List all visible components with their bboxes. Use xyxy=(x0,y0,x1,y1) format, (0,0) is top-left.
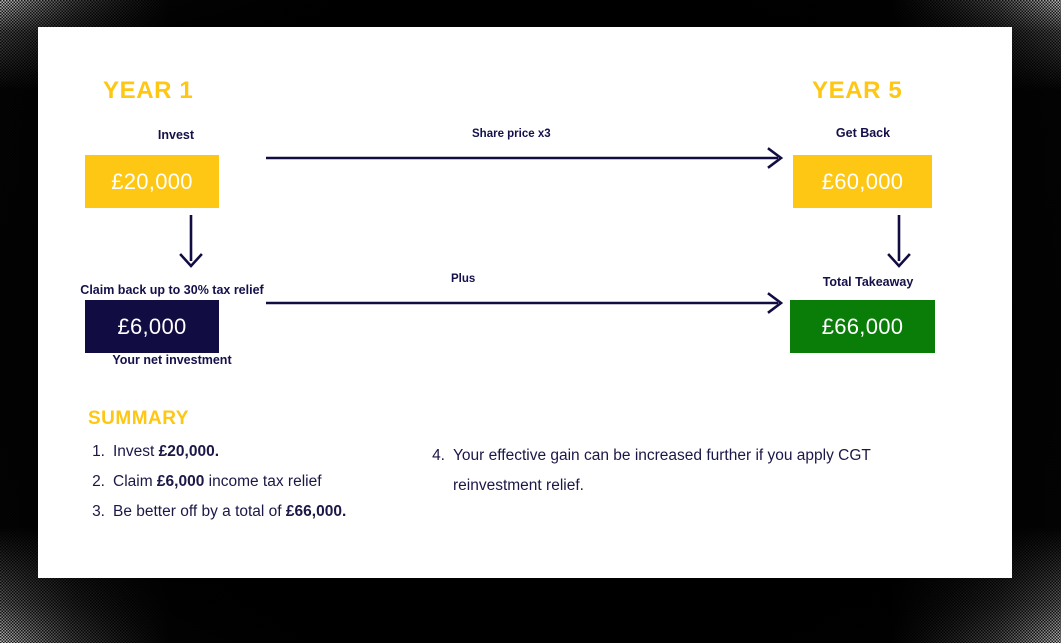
summary-item-number: 4. xyxy=(423,441,445,501)
summary-list-item: 3.Be better off by a total of £66,000. xyxy=(83,497,346,527)
right-arrow-top-icon xyxy=(266,144,789,172)
total-takeaway-amount-value: £66,000 xyxy=(822,314,904,340)
share-price-caption: Share price x3 xyxy=(472,128,551,140)
plus-caption: Plus xyxy=(451,273,475,285)
summary-list-item: 4.Your effective gain can be increased f… xyxy=(423,441,908,501)
summary-list-left: 1.Invest £20,000.2.Claim £6,000 income t… xyxy=(83,437,346,527)
down-arrow-left-icon xyxy=(168,215,214,269)
invest-label: Invest xyxy=(86,128,266,142)
year-5-heading: YEAR 5 xyxy=(812,77,902,105)
tax-relief-amount-value: £6,000 xyxy=(117,314,186,340)
down-arrow-right-icon xyxy=(876,215,922,269)
get-back-amount-value: £60,000 xyxy=(822,169,904,195)
invest-amount-value: £20,000 xyxy=(111,169,193,195)
invest-amount-box: £20,000 xyxy=(85,155,219,208)
total-takeaway-label: Total Takeaway xyxy=(753,275,983,289)
get-back-label: Get Back xyxy=(753,126,973,140)
summary-list-item: 1.Invest £20,000. xyxy=(83,437,346,467)
summary-items-4: 4.Your effective gain can be increased f… xyxy=(423,441,908,501)
right-arrow-bottom-icon xyxy=(266,289,789,317)
summary-item-text: Be better off by a total of £66,000. xyxy=(113,497,346,527)
summary-title: SUMMARY xyxy=(88,408,189,430)
net-investment-label: Your net investment xyxy=(58,353,286,367)
get-back-amount-box: £60,000 xyxy=(793,155,932,208)
year-1-heading: YEAR 1 xyxy=(103,77,193,105)
total-takeaway-amount-box: £66,000 xyxy=(790,300,935,353)
summary-list-right: 4.Your effective gain can be increased f… xyxy=(423,441,908,501)
summary-item-number: 2. xyxy=(83,467,105,497)
tax-relief-amount-box: £6,000 xyxy=(85,300,219,353)
summary-item-number: 1. xyxy=(83,437,105,467)
summary-item-text: Claim £6,000 income tax relief xyxy=(113,467,322,497)
summary-list-item: 2.Claim £6,000 income tax relief xyxy=(83,467,346,497)
infographic-card: YEAR 1 YEAR 5 Invest £20,000 Claim back … xyxy=(38,27,1012,578)
summary-item-text: Invest £20,000. xyxy=(113,437,219,467)
summary-items-1-3: 1.Invest £20,000.2.Claim £6,000 income t… xyxy=(83,437,346,527)
summary-item-number: 3. xyxy=(83,497,105,527)
summary-item-text: Your effective gain can be increased fur… xyxy=(453,441,908,501)
